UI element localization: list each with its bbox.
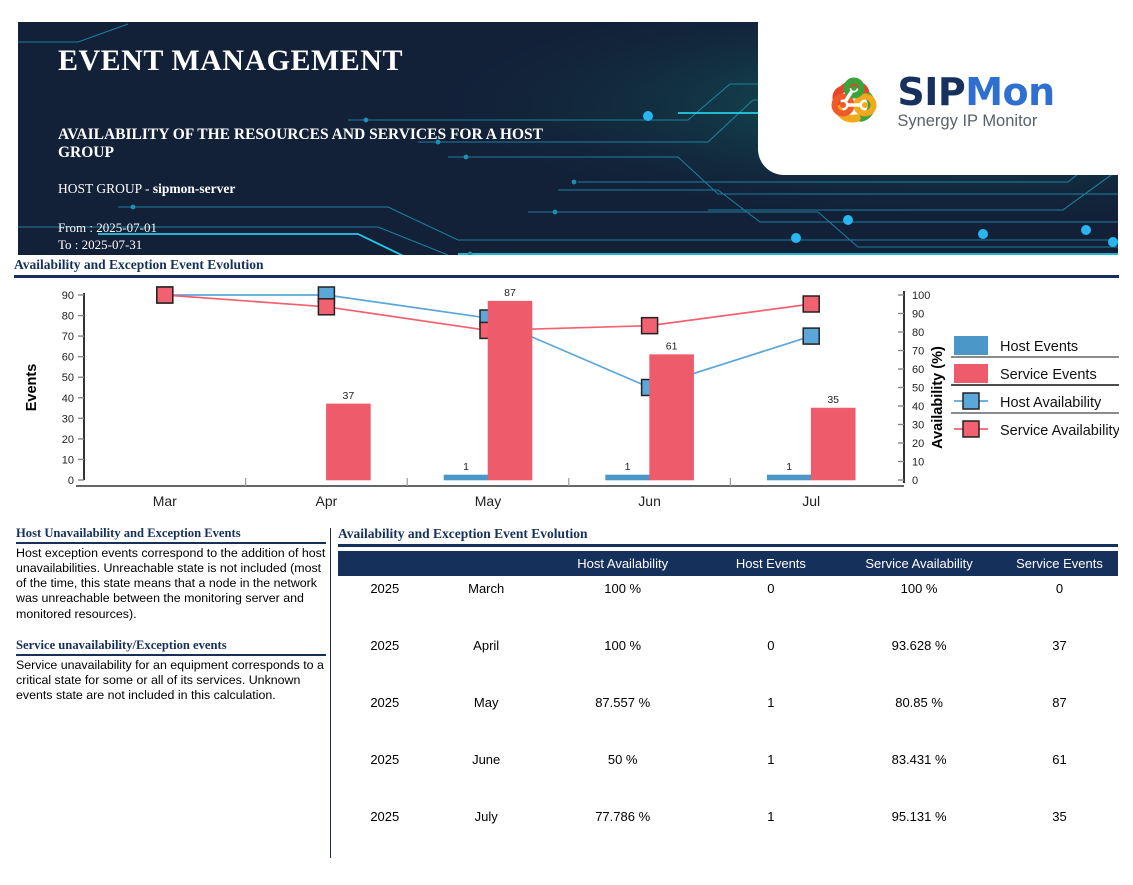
table-cell-1: July: [432, 804, 541, 861]
table-row: 2025May87.557 %180.85 %87: [338, 690, 1118, 747]
table-cell-5: 0: [1001, 576, 1118, 633]
left-axis-tick: 50: [62, 372, 74, 384]
bar-service-events-jun: [650, 355, 694, 480]
table-col-header-1: [432, 551, 541, 576]
table-cell-2: 87.557 %: [541, 690, 705, 747]
table-cell-1: June: [432, 747, 541, 804]
table-cell-4: 95.131 %: [837, 804, 1001, 861]
table-cell-0: 2025: [338, 633, 432, 690]
right-axis-label: Availability (%): [930, 346, 946, 449]
bar-host-events-jul: [767, 475, 811, 480]
marker-host-availability: [803, 328, 819, 344]
left-axis-tick: 80: [62, 311, 74, 323]
right-axis-tick: 90: [912, 309, 924, 321]
table-col-header-5: Service Events: [1001, 551, 1118, 576]
right-axis-tick: 50: [912, 383, 924, 395]
bar-service-events-jul: [811, 408, 855, 480]
left-axis-tick: 70: [62, 331, 74, 343]
marker-service-availability: [803, 296, 819, 312]
legend-swatch-0: [954, 336, 988, 355]
left-axis-tick: 0: [68, 475, 74, 487]
table-cell-0: 2025: [338, 576, 432, 633]
host-group-line: HOST GROUP - sipmon-server: [58, 181, 1118, 197]
marker-service-availability: [642, 318, 658, 334]
table-cell-1: May: [432, 690, 541, 747]
table-header-row: Host AvailabilityHost EventsService Avai…: [338, 551, 1118, 576]
legend-label-3: Service Availability: [1000, 423, 1119, 439]
vertical-divider: [330, 528, 331, 858]
bar-host-events-may: [444, 475, 488, 480]
chart-canvas: 0102030405060708090Events010203040506070…: [14, 283, 1119, 515]
table-cell-2: 77.786 %: [541, 804, 705, 861]
left-axis-tick: 20: [62, 434, 74, 446]
table-cell-2: 100 %: [541, 576, 705, 633]
table-row: 2025April100 %093.628 %37: [338, 633, 1118, 690]
legend-label-2: Host Availability: [1000, 395, 1102, 411]
right-axis-tick: 10: [912, 457, 924, 469]
host-group-label: HOST GROUP -: [58, 181, 153, 196]
left-axis-tick: 90: [62, 290, 74, 302]
x-axis-tick-apr: Apr: [316, 493, 338, 509]
table-cell-1: April: [432, 633, 541, 690]
right-axis-tick: 60: [912, 364, 924, 376]
table-col-header-4: Service Availability: [837, 551, 1001, 576]
table-cell-5: 37: [1001, 633, 1118, 690]
table-cell-3: 0: [705, 633, 838, 690]
table-cell-0: 2025: [338, 747, 432, 804]
bar-value-label: 35: [827, 394, 839, 406]
table-cell-3: 0: [705, 576, 838, 633]
table-cell-4: 83.431 %: [837, 747, 1001, 804]
left-axis-tick: 40: [62, 393, 74, 405]
date-from: From : 2025-07-01: [58, 219, 1118, 237]
date-range: From : 2025-07-01 To : 2025-07-31: [58, 219, 1118, 254]
service-note-text: Service unavailability for an equipment …: [16, 658, 326, 703]
right-axis-tick: 30: [912, 420, 924, 432]
logo-sip: SIP: [897, 70, 965, 114]
bar-value-label: 1: [625, 461, 631, 473]
bar-host-events-jun: [606, 475, 650, 480]
table-cell-0: 2025: [338, 690, 432, 747]
right-axis-tick: 20: [912, 438, 924, 450]
date-to: To : 2025-07-31: [58, 236, 1118, 254]
right-axis-tick: 0: [912, 475, 918, 487]
marker-service-availability: [157, 287, 173, 303]
table-cell-3: 1: [705, 690, 838, 747]
table-cell-5: 61: [1001, 747, 1118, 804]
bar-value-label: 61: [666, 341, 678, 353]
chart-section-title: Availability and Exception Event Evoluti…: [14, 257, 1119, 278]
table-cell-2: 100 %: [541, 633, 705, 690]
x-axis-tick-mar: Mar: [153, 493, 177, 509]
sipmon-network-icon: [821, 72, 887, 132]
table-cell-4: 80.85 %: [837, 690, 1001, 747]
right-axis-tick: 40: [912, 401, 924, 413]
table-cell-5: 35: [1001, 804, 1118, 861]
table-section-title: Availability and Exception Event Evoluti…: [338, 526, 1118, 547]
x-axis-tick-may: May: [475, 493, 501, 509]
legend-swatch-3: [963, 421, 979, 437]
host-group-value: sipmon-server: [153, 181, 235, 196]
left-axis-tick: 60: [62, 352, 74, 364]
availability-event-chart: 0102030405060708090Events010203040506070…: [14, 283, 1119, 515]
bar-value-label: 1: [463, 461, 469, 473]
report-subtitle: AVAILABILITY OF THE RESOURCES AND SERVIC…: [58, 126, 588, 163]
table-col-header-0: [338, 551, 432, 576]
left-axis-tick: 10: [62, 454, 74, 466]
table-cell-3: 1: [705, 747, 838, 804]
table-cell-4: 93.628 %: [837, 633, 1001, 690]
bar-value-label: 1: [786, 461, 792, 473]
marker-service-availability: [318, 299, 334, 315]
table-cell-4: 100 %: [837, 576, 1001, 633]
x-axis-tick-jun: Jun: [638, 493, 661, 509]
bar-value-label: 87: [504, 287, 516, 299]
bar-value-label: 37: [343, 390, 355, 402]
table-body: 2025March100 %0100 %02025April100 %093.6…: [338, 576, 1118, 861]
left-axis-tick: 30: [62, 413, 74, 425]
table-row: 2025July77.786 %195.131 %35: [338, 804, 1118, 861]
table-cell-0: 2025: [338, 804, 432, 861]
legend-swatch-1: [954, 364, 988, 383]
table-cell-3: 1: [705, 804, 838, 861]
table-cell-5: 87: [1001, 690, 1118, 747]
logo-wordmark: SIPMon: [897, 73, 1054, 111]
right-axis-tick: 80: [912, 327, 924, 339]
x-axis-tick-jul: Jul: [802, 493, 820, 509]
logo-tagline: Synergy IP Monitor: [897, 113, 1054, 130]
availability-table-panel: Availability and Exception Event Evoluti…: [338, 526, 1118, 861]
right-axis-tick: 100: [912, 290, 930, 302]
bar-service-events-apr: [326, 404, 370, 480]
table-cell-2: 50 %: [541, 747, 705, 804]
logo-mon: Mon: [965, 70, 1054, 114]
legend-label-0: Host Events: [1000, 339, 1078, 355]
table-col-header-3: Host Events: [705, 551, 838, 576]
service-note-heading: Service unavailability/Exception events: [16, 638, 326, 656]
table-row: 2025March100 %0100 %0: [338, 576, 1118, 633]
legend-label-1: Service Events: [1000, 367, 1097, 383]
legend-swatch-2: [963, 393, 979, 409]
table-row: 2025June50 %183.431 %61: [338, 747, 1118, 804]
report-header-banner: EVENT MANAGEMENT AVAILABILITY OF THE RES…: [18, 22, 1118, 255]
table-cell-1: March: [432, 576, 541, 633]
availability-table: Host AvailabilityHost EventsService Avai…: [338, 551, 1118, 861]
left-axis-label: Events: [24, 364, 40, 412]
host-note-text: Host exception events correspond to the …: [16, 546, 326, 622]
right-axis-tick: 70: [912, 346, 924, 358]
bar-service-events-may: [488, 301, 532, 480]
host-note-heading: Host Unavailability and Exception Events: [16, 526, 326, 544]
table-col-header-2: Host Availability: [541, 551, 705, 576]
notes-panel: Host Unavailability and Exception Events…: [16, 526, 326, 703]
sipmon-logo-card: SIPMon Synergy IP Monitor: [758, 22, 1118, 175]
